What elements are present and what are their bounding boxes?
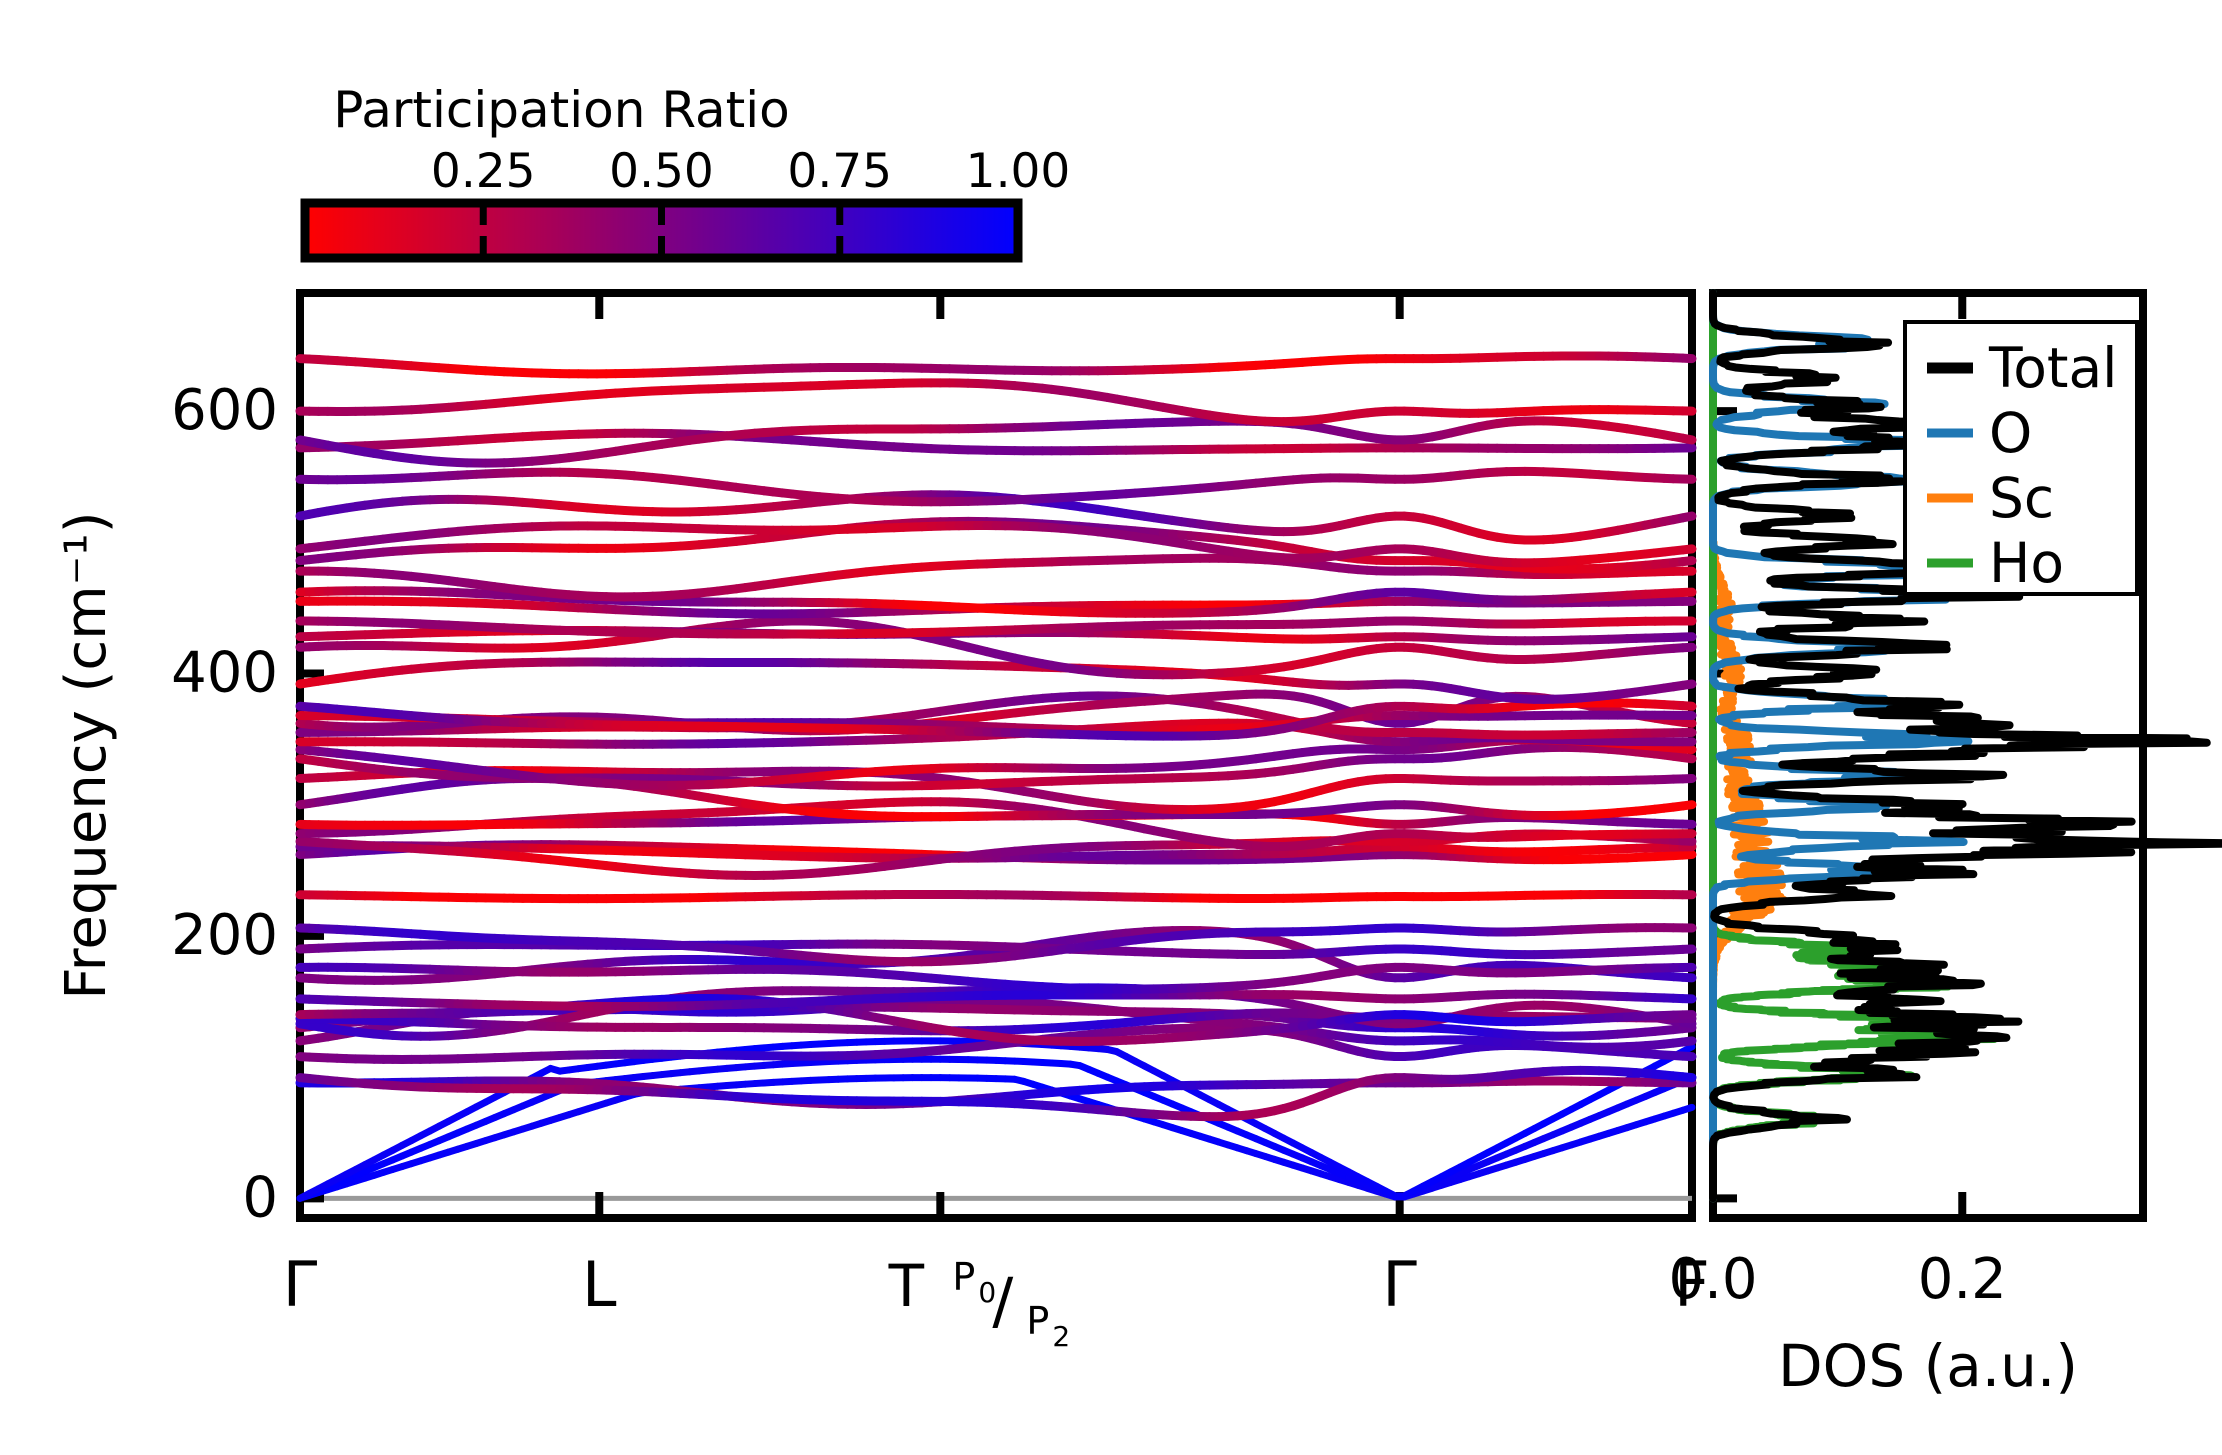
xtick-P2-sub: 2 — [1052, 1320, 1070, 1353]
xtick-slash: / — [992, 1264, 1013, 1337]
colorbar-tick-label: 1.00 — [966, 144, 1071, 199]
band-segment — [1683, 1107, 1692, 1110]
colorbar-tick-label: 0.75 — [787, 144, 892, 199]
xtick-T: T — [888, 1252, 925, 1320]
band-ylabel: Frequency (cm⁻¹) — [54, 511, 119, 999]
band-segment — [1683, 977, 1692, 978]
band-xtick-label: Γ — [283, 1248, 318, 1321]
band-segment — [1683, 684, 1692, 685]
band-segment — [1683, 841, 1692, 842]
band-segment — [1683, 855, 1692, 856]
colorbar: 0.250.500.751.00Participation Ratio — [305, 81, 1070, 258]
band-ytick-label: 0 — [242, 1165, 278, 1230]
band-xtick-label: L — [582, 1248, 617, 1321]
band-xtick-label: Γ — [1382, 1248, 1417, 1321]
xtick-P2: P — [1026, 1299, 1049, 1343]
band-segment — [1683, 749, 1692, 750]
band-segment — [1683, 722, 1692, 723]
band-curves — [300, 356, 1692, 1198]
band-segment — [1683, 706, 1692, 707]
band-segment — [1683, 1077, 1692, 1078]
band-ytick-label: 200 — [171, 903, 278, 968]
band-segment — [1683, 758, 1692, 759]
band-ytick-label: 600 — [171, 378, 278, 443]
band-segment — [1683, 1047, 1692, 1052]
colorbar-title: Participation Ratio — [333, 81, 789, 139]
band-segment — [1683, 805, 1692, 806]
band-xtick-label-special: TP0/P2 — [888, 1252, 1071, 1353]
band-ytick-label: 400 — [171, 640, 278, 705]
band-segment — [1683, 1056, 1692, 1057]
band-segment — [1683, 647, 1692, 648]
figure-root: 0.250.500.751.00Participation Ratio02004… — [0, 0, 2222, 1455]
xtick-P0: P — [952, 1255, 975, 1299]
colorbar-tick-label: 0.25 — [431, 144, 536, 199]
band-segment — [1683, 1041, 1692, 1042]
colorbar-tick-label: 0.50 — [609, 144, 714, 199]
figure-canvas: 0.250.500.751.00Participation Ratio02004… — [0, 0, 2222, 1455]
band-structure-panel: 0200400600Frequency (cm⁻¹)ΓLTP0/P2ΓF — [54, 293, 1710, 1353]
